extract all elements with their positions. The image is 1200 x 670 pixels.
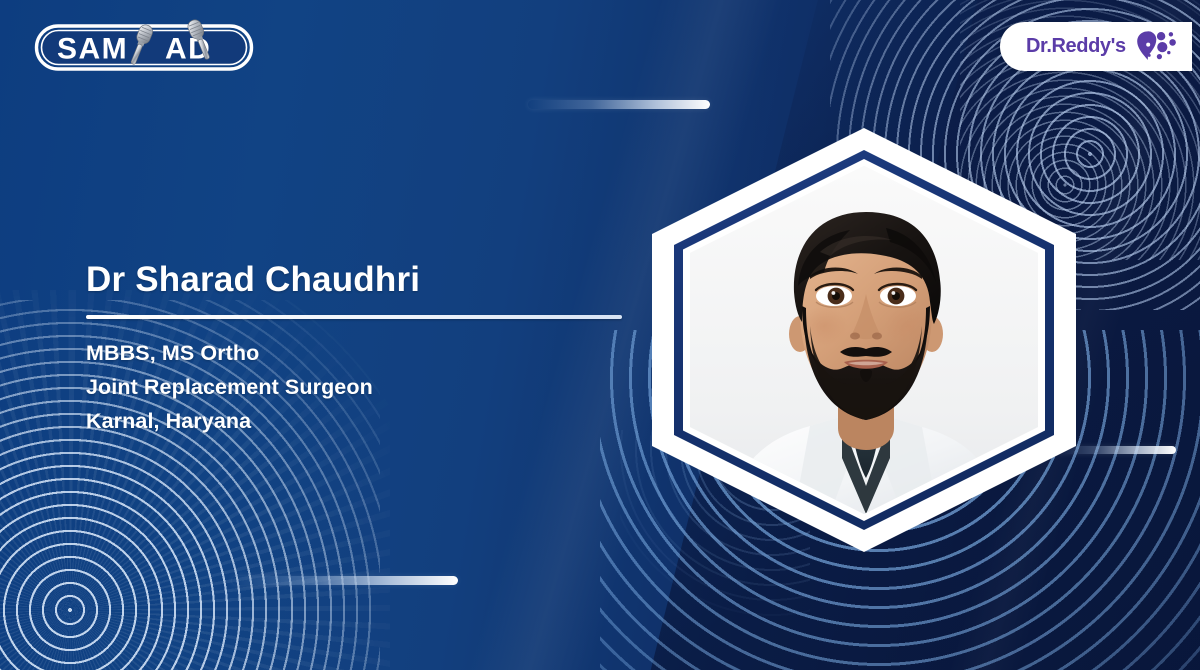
- logo-wordmark-sam: SAM: [57, 33, 128, 66]
- dr-reddys-wordmark: Dr.Reddy's: [1026, 35, 1126, 58]
- name-underline-rule: [86, 315, 622, 319]
- speaker-name: Dr Sharad Chaudhri: [86, 262, 646, 299]
- slide-canvas: SAM AD: [0, 0, 1200, 670]
- speaker-portrait-hexagon: [652, 128, 1076, 552]
- speaker-credentials: MBBS, MS Ortho Joint Replacement Surgeon…: [86, 337, 646, 439]
- accent-bar-bottom: [232, 576, 458, 585]
- credential-line-1: MBBS, MS Ortho: [86, 337, 646, 371]
- credential-line-3: Karnal, Haryana: [86, 405, 646, 439]
- speaker-info-block: Dr Sharad Chaudhri MBBS, MS Ortho Joint …: [86, 262, 646, 439]
- samvad-logo: SAM AD: [34, 17, 254, 78]
- credential-line-2: Joint Replacement Surgeon: [86, 371, 646, 405]
- dr-reddys-logo: Dr.Reddy's: [1000, 22, 1192, 71]
- dr-reddys-molecule-icon: [1134, 30, 1180, 64]
- accent-bar-top: [528, 100, 710, 109]
